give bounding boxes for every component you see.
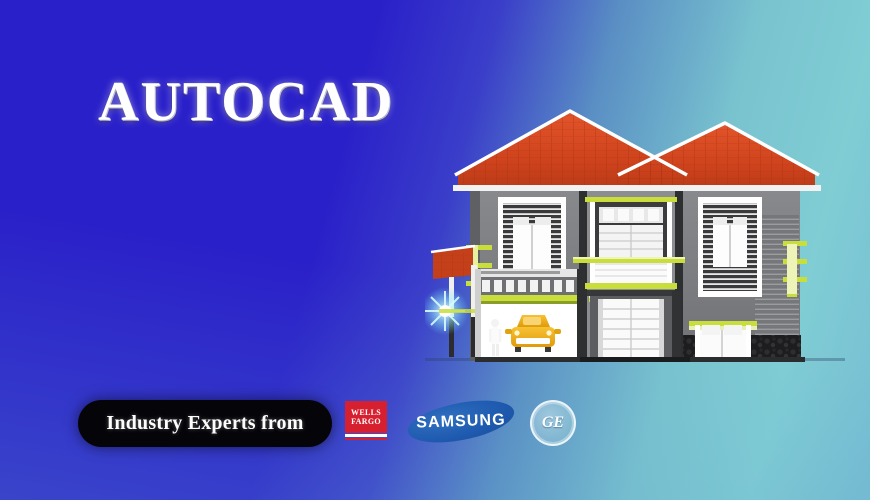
- wells-fargo-logo: WELLS FARGO: [345, 401, 387, 441]
- samsung-label: SAMSUNG: [406, 401, 515, 442]
- general-electric-label: GE: [542, 414, 564, 432]
- wells-fargo-underline-accent: [345, 438, 387, 440]
- partner-logos: WELLS FARGO SAMSUNG GE: [345, 398, 575, 450]
- industry-experts-label: Industry Experts from: [106, 412, 303, 435]
- poster-canvas: AUTOCAD Industry Experts from WELLS FARG…: [0, 0, 870, 500]
- industry-experts-banner: Industry Experts from: [78, 400, 332, 447]
- general-electric-logo: GE: [530, 400, 576, 446]
- wells-fargo-underline: [345, 434, 387, 437]
- page-title: AUTOCAD: [98, 70, 394, 134]
- house-illustration: [425, 95, 845, 395]
- samsung-logo: SAMSUNG: [407, 403, 515, 440]
- wells-fargo-line2: FARGO: [351, 417, 381, 426]
- wells-fargo-box: WELLS FARGO: [345, 401, 387, 433]
- wells-fargo-line1: WELLS: [351, 408, 381, 417]
